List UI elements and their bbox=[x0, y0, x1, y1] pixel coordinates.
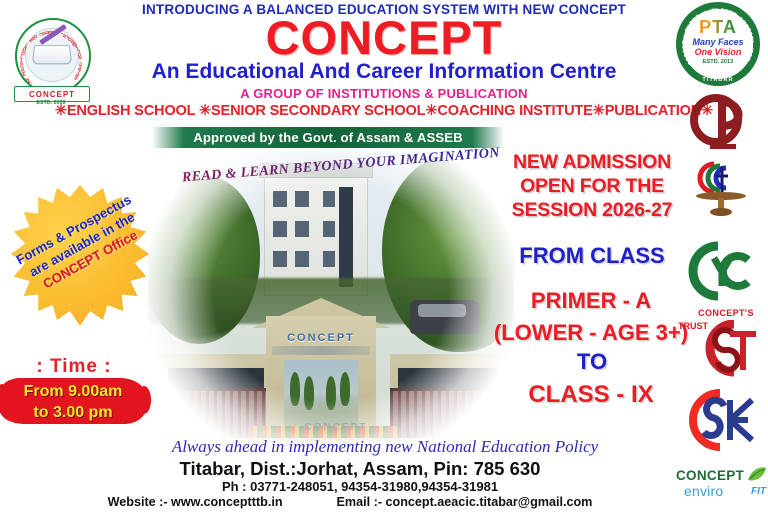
leaf-icon bbox=[746, 466, 768, 484]
ccf-lamp-icon bbox=[692, 158, 750, 216]
ccf-logo bbox=[692, 158, 750, 216]
contact-row: Website :- www.conceptttb.in Email :- co… bbox=[40, 495, 660, 509]
approved-banner-text: Approved by the Govt. of Assam & ASSEB bbox=[193, 130, 463, 145]
concept-crest-logo: AN EDUCATIONAL AND CAREER INFORMATION CE… bbox=[8, 16, 94, 108]
time-line-2: to 3.00 pm bbox=[2, 402, 144, 423]
institutions-line: ✳ENGLISH SCHOOL ✳SENIOR SECONDARY SCHOOL… bbox=[0, 102, 768, 119]
group-line: A GROUP OF INSTITUTIONS & PUBLICATION bbox=[0, 86, 768, 101]
prospectus-starburst-badge: Forms & Prospectus are available in the … bbox=[8, 185, 152, 335]
address-line: Titabar, Dist.:Jorhat, Assam, Pin: 785 6… bbox=[60, 458, 660, 480]
email-label[interactable]: Email :- concept.aeacic.titabar@gmail.co… bbox=[337, 495, 593, 509]
open-book-icon bbox=[32, 45, 73, 64]
cyc-logo bbox=[684, 240, 752, 302]
campus-photo: CONCEPT CONCEPT bbox=[148, 150, 514, 445]
poster-root: INTRODUCING A BALANCED EDUCATION SYSTEM … bbox=[0, 0, 768, 512]
pta-place: TITABAR bbox=[676, 77, 760, 83]
csk-logo bbox=[678, 388, 756, 454]
parked-car bbox=[410, 300, 480, 334]
pta-tagline-1: Many Faces bbox=[676, 37, 760, 47]
time-label: : Time : bbox=[6, 356, 142, 378]
tagline: Always ahead in implementing new Nationa… bbox=[100, 437, 670, 457]
concept-envirofit-logo: CONCEPT enviro FIT bbox=[676, 466, 768, 508]
cp-monogram-icon bbox=[688, 92, 754, 154]
admission-line-3: SESSION 2026-27 bbox=[494, 198, 690, 222]
envirofit-word-3: FIT bbox=[751, 486, 766, 497]
admission-headline: NEW ADMISSION OPEN FOR THE SESSION 2026-… bbox=[494, 150, 690, 222]
primer-label: PRIMER - A bbox=[486, 285, 696, 317]
phone-line: Ph : 03771-248051, 94354-31980,94354-319… bbox=[60, 479, 660, 494]
primer-age-note: (LOWER - AGE 3+) bbox=[486, 317, 696, 349]
cst-monogram-icon bbox=[694, 320, 760, 378]
pta-acronym: PTA bbox=[676, 18, 760, 36]
cst-logo: CONCEPT'S TRUST bbox=[676, 308, 762, 380]
admission-line-2: OPEN FOR THE bbox=[494, 174, 690, 198]
pta-logo: CONCEPT PARENT-TEACHER ASSOCIATION PTA M… bbox=[676, 2, 760, 86]
cp-logo bbox=[688, 92, 754, 154]
page-title: CONCEPT bbox=[0, 14, 768, 61]
envirofit-word-1: CONCEPT bbox=[676, 468, 752, 483]
class-range-start: PRIMER - A (LOWER - AGE 3+) bbox=[486, 285, 696, 349]
admission-line-1: NEW ADMISSION bbox=[494, 150, 690, 174]
website-label[interactable]: Website :- www.conceptttb.in bbox=[108, 495, 283, 509]
cst-trust-label: TRUST bbox=[678, 322, 689, 332]
approved-banner: Approved by the Govt. of Assam & ASSEB bbox=[152, 127, 504, 148]
cst-caption: CONCEPT'S bbox=[690, 308, 762, 318]
csk-monogram-icon bbox=[678, 388, 756, 454]
time-line-1: From 9.00am bbox=[2, 381, 144, 402]
to-label: TO bbox=[494, 349, 690, 375]
crest-estd-label: ESTD. 2009 bbox=[14, 100, 88, 106]
pta-estd: ESTD. 2013 bbox=[676, 59, 760, 65]
cyc-monogram-icon bbox=[684, 240, 752, 302]
gate-sign-text: CONCEPT bbox=[276, 330, 366, 346]
photo-feather-mask: CONCEPT CONCEPT bbox=[148, 150, 514, 445]
school-building bbox=[264, 168, 368, 296]
time-value: From 9.00am to 3.00 pm bbox=[2, 381, 144, 423]
gate-sign-subline bbox=[272, 346, 370, 355]
from-class-label: FROM CLASS bbox=[494, 243, 690, 269]
pta-tagline-2: One Vision bbox=[676, 47, 760, 57]
class-range-end: CLASS - IX bbox=[490, 381, 692, 409]
subtitle: An Educational And Career Information Ce… bbox=[0, 61, 768, 83]
gate-bottom-sign-text: CONCEPT bbox=[288, 422, 384, 433]
